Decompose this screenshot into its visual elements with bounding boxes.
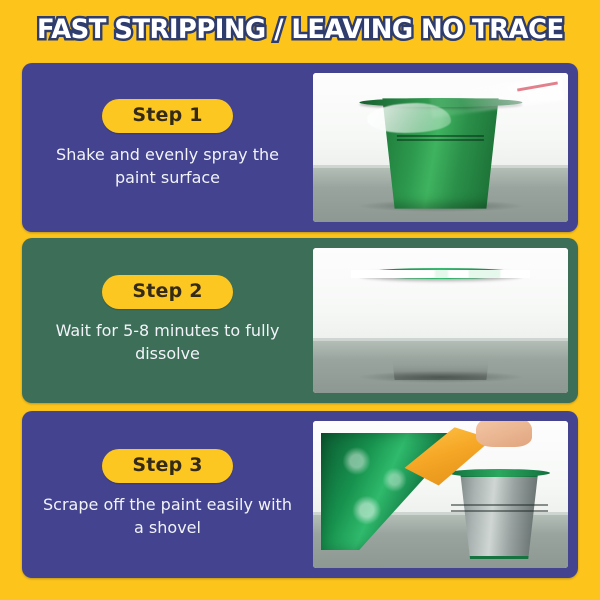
step-1-text-block: Step 1 Shake and evenly spray the paint … [22,63,313,232]
page-title: FAST STRIPPING / LEAVING NO TRACE [37,14,564,45]
step-3-text-block: Step 3 Scrape off the paint easily with … [22,411,313,578]
hand [476,421,532,447]
step-2-description: Wait for 5-8 minutes to fully dissolve [43,320,293,365]
step-2-text-block: Step 2 Wait for 5-8 minutes to fully dis… [22,238,313,403]
bucket-band [397,135,484,137]
paint-foam [351,270,530,278]
step-panel-3: Step 3 Scrape off the paint easily with … [22,411,578,578]
scene-spray-bucket [313,73,568,222]
step-panel-2: Step 2 Wait for 5-8 minutes to fully dis… [22,238,578,403]
step-3-description: Scrape off the paint easily with a shove… [43,494,293,539]
step-2-image [313,248,568,393]
step-1-description: Shake and evenly spray the paint surface [43,144,293,189]
scene-scraping-bucket [313,421,568,568]
scene-dissolving-bucket [313,248,568,393]
step-panel-1: Step 1 Shake and evenly spray the paint … [22,63,578,232]
step-2-badge: Step 2 [102,275,232,309]
step-3-badge: Step 3 [102,449,232,483]
poster-header: FAST STRIPPING / LEAVING NO TRACE [0,0,600,58]
promo-poster: FAST STRIPPING / LEAVING NO TRACE Step 1… [0,0,600,600]
bucket-band [397,139,484,141]
step-1-image [313,73,568,222]
metal-bucket-band [451,504,548,506]
metal-bucket-rim [448,469,550,477]
step-3-image [313,421,568,568]
metal-bucket-band [451,510,548,512]
step-1-badge: Step 1 [102,99,232,133]
